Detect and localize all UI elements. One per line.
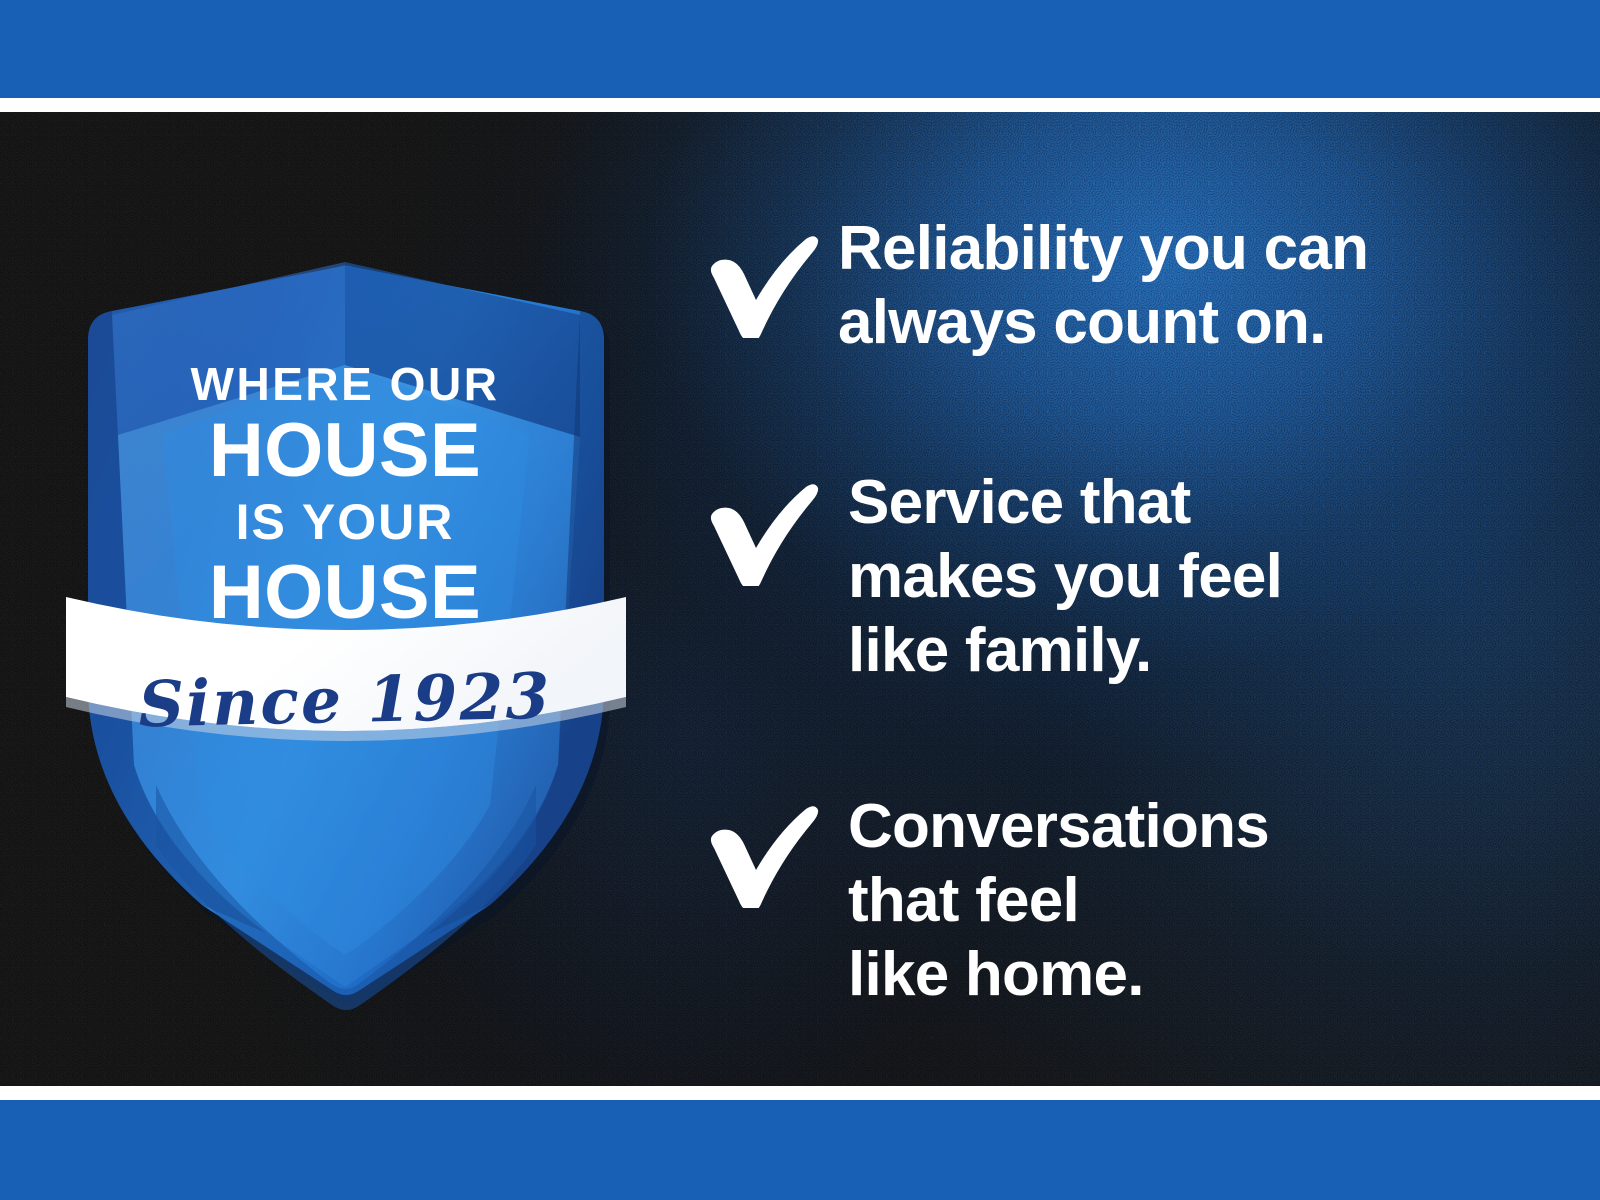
bottom-brand-bar: [0, 1100, 1600, 1200]
benefit-text: Conversations that feel like home.: [848, 790, 1568, 1012]
benefit-text: Reliability you can always count on.: [838, 212, 1558, 360]
top-brand-bar: [0, 0, 1600, 98]
checkmark-icon: [682, 788, 822, 908]
checkmark-icon: [682, 218, 822, 338]
promo-poster: Where our House Is your House Since 1923…: [0, 0, 1600, 1200]
shield-emblem: Where our House Is your House Since 1923: [60, 245, 630, 955]
benefit-text: Service that makes you feel like family.: [848, 466, 1568, 688]
benefits-list: Reliability you can always count on. Ser…: [660, 112, 1560, 1086]
checkmark-icon: [682, 466, 822, 586]
bottom-white-divider: [0, 1086, 1600, 1100]
top-white-divider: [0, 98, 1600, 112]
